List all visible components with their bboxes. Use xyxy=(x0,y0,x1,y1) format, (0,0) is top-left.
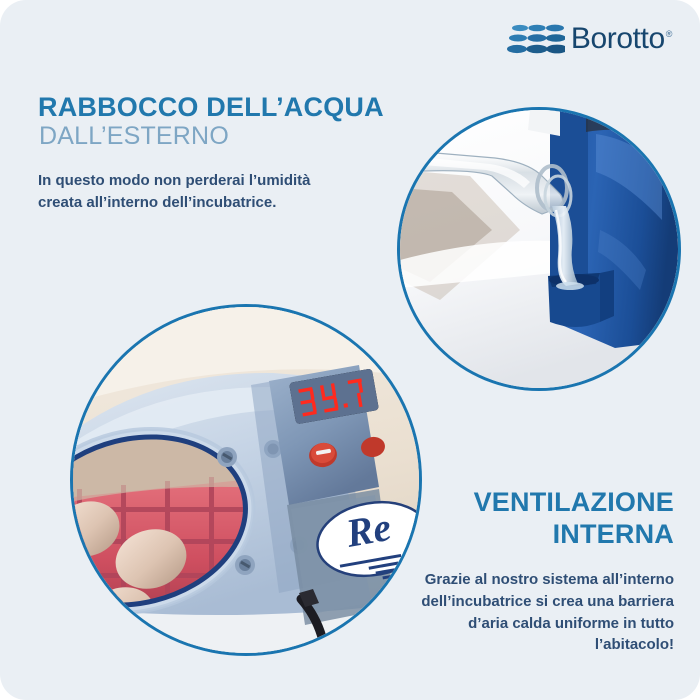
heading-rabbocco-line2: DALL’ESTERNO xyxy=(39,122,388,150)
poster-canvas: Borotto® RABBOCCO DELL’ACQUA DALL’ESTERN… xyxy=(0,0,700,700)
body-bottom-right-line3: d’aria calda uniforme in tutto xyxy=(344,613,674,635)
section-bottom-right: VENTILAZIONE INTERNA Grazie al nostro si… xyxy=(344,487,674,656)
heading-rabbocco-line1: RABBOCCO DELL’ACQUA xyxy=(38,92,388,122)
body-top-left-line1: In questo modo non perderai l’umidità xyxy=(38,170,388,191)
body-top-left: In questo modo non perderai l’umidità cr… xyxy=(38,170,388,213)
body-bottom-right-line1: Grazie al nostro sistema all’interno xyxy=(344,569,674,591)
brand-logo: Borotto® xyxy=(507,22,672,56)
brand-name: Borotto® xyxy=(571,24,672,54)
water-pouring-illustration xyxy=(400,110,678,388)
brand-name-text: Borotto xyxy=(571,22,665,55)
body-bottom-right-line4: l’abitacolo! xyxy=(344,634,674,656)
photo-water-pouring xyxy=(400,110,678,388)
section-top-left: RABBOCCO DELL’ACQUA DALL’ESTERNO In ques… xyxy=(38,92,388,213)
body-bottom-right: Grazie al nostro sistema all’interno del… xyxy=(344,569,674,657)
body-bottom-right-line2: dell’incubatrice si crea una barriera xyxy=(344,591,674,613)
registered-mark: ® xyxy=(666,29,672,39)
heading-ventilazione-line1: VENTILAZIONE xyxy=(344,487,674,519)
borotto-dots-icon xyxy=(507,22,565,56)
heading-ventilazione-line2: INTERNA xyxy=(344,519,674,551)
body-top-left-line2: creata all’interno dell’incubatrice. xyxy=(38,192,388,213)
